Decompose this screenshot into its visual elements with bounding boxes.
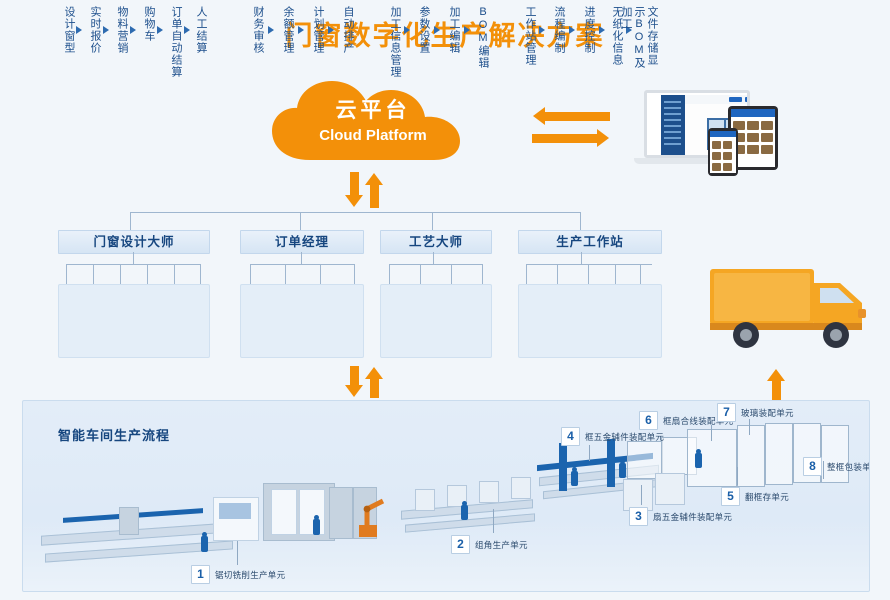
- module1-tick-1: [66, 264, 67, 284]
- arrow-down-icon: [350, 366, 359, 386]
- cloud-platform-name-en: Cloud Platform: [268, 126, 478, 146]
- unit-text-7: 玻璃装配单元: [741, 407, 794, 419]
- module1-branch-bus: [66, 264, 200, 265]
- unit-label-8[interactable]: 8 整框包装单元: [803, 457, 870, 476]
- module-body-process-master: [380, 284, 492, 358]
- cloud-devices-arrows: [532, 112, 612, 150]
- module-drop-4: [580, 212, 581, 230]
- chevron-right-icon: [184, 26, 190, 34]
- module1-stem: [133, 252, 134, 264]
- delivery-truck-icon: [706, 255, 878, 360]
- equipment-tower-1: [329, 487, 353, 539]
- equipment-column-3b: [607, 439, 615, 487]
- module-header-design-master[interactable]: 门窗设计大师: [58, 230, 210, 254]
- unit-label-3[interactable]: 3 扇五金辅件装配单元: [629, 507, 732, 526]
- module2-tick-2: [285, 264, 286, 284]
- arrow-down-icon: [350, 172, 359, 196]
- module-item-parameter-settings[interactable]: 参数设置: [417, 6, 430, 54]
- module1-tick-6: [200, 264, 201, 284]
- worker-figure: [619, 463, 626, 478]
- module-item-progress-control[interactable]: 进度控制: [582, 6, 595, 54]
- unit-text-4: 框五金辅件装配单元: [585, 431, 664, 443]
- arrow-up-icon: [370, 378, 379, 398]
- module-bus-line: [130, 212, 580, 213]
- leader-line-2: [493, 509, 494, 533]
- module-item-process-flow-compile[interactable]: 流程编制: [552, 6, 565, 54]
- equipment-glass-rack-7a: [737, 425, 765, 487]
- equipment-glass-rack-7b: [765, 423, 793, 485]
- module4-tick-4: [615, 264, 616, 284]
- arrow-right-icon: [532, 134, 598, 143]
- chevron-right-icon: [539, 26, 545, 34]
- module-body-design-master: [58, 284, 210, 358]
- chevron-right-icon: [434, 26, 440, 34]
- equipment-machine-2-door-b: [299, 489, 325, 535]
- module-item-design-window-type[interactable]: 设计窗型: [62, 6, 75, 54]
- module-body-order-manager: [240, 284, 364, 358]
- chevron-right-icon: [130, 26, 136, 34]
- module3-tick-1: [389, 264, 390, 284]
- modules-factory-arrows: [348, 366, 390, 400]
- equipment-saw-head: [119, 507, 139, 535]
- cloud-platform-name-cn: 云平台: [268, 98, 478, 124]
- chevron-right-icon: [404, 26, 410, 34]
- module-item-plan-management[interactable]: 计划管理: [311, 6, 324, 54]
- cloud-platform-node: 云平台 Cloud Platform: [268, 78, 478, 168]
- module3-tick-3: [451, 264, 452, 284]
- module-header-production-workstation[interactable]: 生产工作站: [518, 230, 662, 254]
- solution-diagram: 门窗数字化生产解决方案 云平台 Cloud Platform: [0, 0, 890, 600]
- module1-tick-4: [147, 264, 148, 284]
- module-item-workstation-management[interactable]: 工作站管理: [523, 6, 536, 66]
- unit-number-1: 1: [191, 565, 210, 584]
- module-item-financial-audit[interactable]: 财务审核: [251, 6, 264, 54]
- factory-title: 智能车间生产流程: [58, 425, 170, 444]
- module3-branch-bus: [389, 264, 482, 265]
- unit-number-7: 7: [717, 403, 736, 422]
- module-drop-2: [300, 212, 301, 230]
- arrow-left-icon: [544, 112, 610, 121]
- module4-stem: [581, 252, 582, 264]
- module2-tick-4: [354, 264, 355, 284]
- equipment-station-2a: [415, 489, 435, 511]
- module2-stem: [301, 252, 302, 264]
- chevron-right-icon: [268, 26, 274, 34]
- module-header-order-manager[interactable]: 订单经理: [240, 230, 364, 254]
- module2-tick-3: [320, 264, 321, 284]
- module-header-process-master[interactable]: 工艺大师: [380, 230, 492, 254]
- equipment-robot-arm-1: [353, 493, 387, 533]
- module4-tick-5: [640, 264, 641, 284]
- phone-device: [708, 128, 738, 176]
- phone-app-header: [710, 131, 736, 137]
- module-item-order-auto-settlement[interactable]: 订单自动结算: [169, 6, 182, 78]
- module4-branch-bus: [526, 264, 652, 265]
- unit-label-5[interactable]: 5 翻框存单元: [721, 487, 789, 506]
- module3-stem: [433, 252, 434, 264]
- module4-tick-3: [588, 264, 589, 284]
- unit-label-7[interactable]: 7 玻璃装配单元: [717, 403, 794, 422]
- equipment-storage-5b: [655, 473, 685, 505]
- chevron-right-icon: [569, 26, 575, 34]
- unit-text-3: 扇五金辅件装配单元: [653, 511, 732, 523]
- unit-text-1: 锯切铣削生产单元: [215, 569, 285, 581]
- worker-figure: [695, 453, 702, 468]
- leader-line-5: [737, 467, 738, 485]
- worker-figure: [313, 519, 320, 535]
- equipment-cabinet-1-panel: [219, 503, 251, 519]
- app-sidebar-mini: [661, 95, 685, 157]
- module-item-manual-settlement[interactable]: 人工结算: [194, 6, 207, 54]
- unit-number-5: 5: [721, 487, 740, 506]
- unit-number-4: 4: [561, 427, 580, 446]
- module1-tick-3: [120, 264, 121, 284]
- tablet-app-header: [731, 109, 775, 117]
- leader-line-3: [641, 485, 642, 505]
- chevron-right-icon: [464, 26, 470, 34]
- unit-number-8: 8: [803, 457, 822, 476]
- unit-label-2[interactable]: 2 组角生产单元: [451, 535, 528, 554]
- module-item-auto-scheduling[interactable]: 自动排产: [341, 6, 354, 54]
- module2-tick-1: [250, 264, 251, 284]
- leader-line-4: [589, 445, 590, 461]
- unit-number-2: 2: [451, 535, 470, 554]
- module3-tick-4: [482, 264, 483, 284]
- leader-line-1: [237, 541, 238, 565]
- phone-screen: [710, 131, 736, 173]
- unit-number-3: 3: [629, 507, 648, 526]
- module-drop-3: [432, 212, 433, 230]
- equipment-machine-2-door: [271, 489, 297, 535]
- device-mockups: [630, 88, 780, 178]
- module-drop-1: [130, 212, 131, 230]
- factory-truck-arrow: [770, 368, 790, 404]
- module2-branch-bus: [250, 264, 354, 265]
- chevron-right-icon: [103, 26, 109, 34]
- equipment-column-3a: [559, 443, 567, 491]
- unit-text-8: 整框包装单元: [827, 461, 870, 473]
- unit-text-2: 组角生产单元: [475, 539, 528, 551]
- worker-figure: [201, 536, 208, 552]
- module-item-process-info-management[interactable]: 加工信息管理: [388, 6, 401, 78]
- module-item-realtime-quote[interactable]: 实时报价: [88, 6, 101, 54]
- unit-label-1[interactable]: 1 锯切铣削生产单元: [191, 565, 285, 584]
- equipment-station-2d: [511, 477, 531, 499]
- module-item-bom-editing[interactable]: BOM编辑: [476, 6, 489, 69]
- chevron-right-icon: [157, 26, 163, 34]
- cloud-modules-arrows: [348, 172, 390, 208]
- chevron-right-icon: [76, 26, 82, 34]
- equipment-station-2c: [479, 481, 499, 503]
- module-item-material-marketing[interactable]: 物料营销: [115, 6, 128, 54]
- chevron-right-icon: [599, 26, 605, 34]
- module-item-balance-management[interactable]: 余额管理: [281, 6, 294, 54]
- arrow-up-icon: [370, 184, 379, 208]
- chevron-right-icon: [298, 26, 304, 34]
- module-body-production-workstation: [518, 284, 662, 358]
- unit-number-6: 6: [639, 411, 658, 430]
- chevron-right-icon: [328, 26, 334, 34]
- module-item-shopping-cart[interactable]: 购物车: [142, 6, 155, 42]
- module4-tick-2: [557, 264, 558, 284]
- worker-figure: [461, 505, 468, 520]
- module1-tick-5: [174, 264, 175, 284]
- cloud-platform-text: 云平台 Cloud Platform: [268, 98, 478, 146]
- worker-figure: [571, 471, 578, 486]
- unit-text-5: 翻框存单元: [745, 491, 789, 503]
- module-item-process-editing[interactable]: 加工编辑: [447, 6, 460, 54]
- smart-workshop-panel: 智能车间生产流程: [22, 400, 870, 592]
- module4-tick-1: [526, 264, 527, 284]
- module1-tick-2: [93, 264, 94, 284]
- module-item-file-storage-bom[interactable]: 文件存储显示BOM及加工: [636, 6, 658, 70]
- module3-tick-2: [420, 264, 421, 284]
